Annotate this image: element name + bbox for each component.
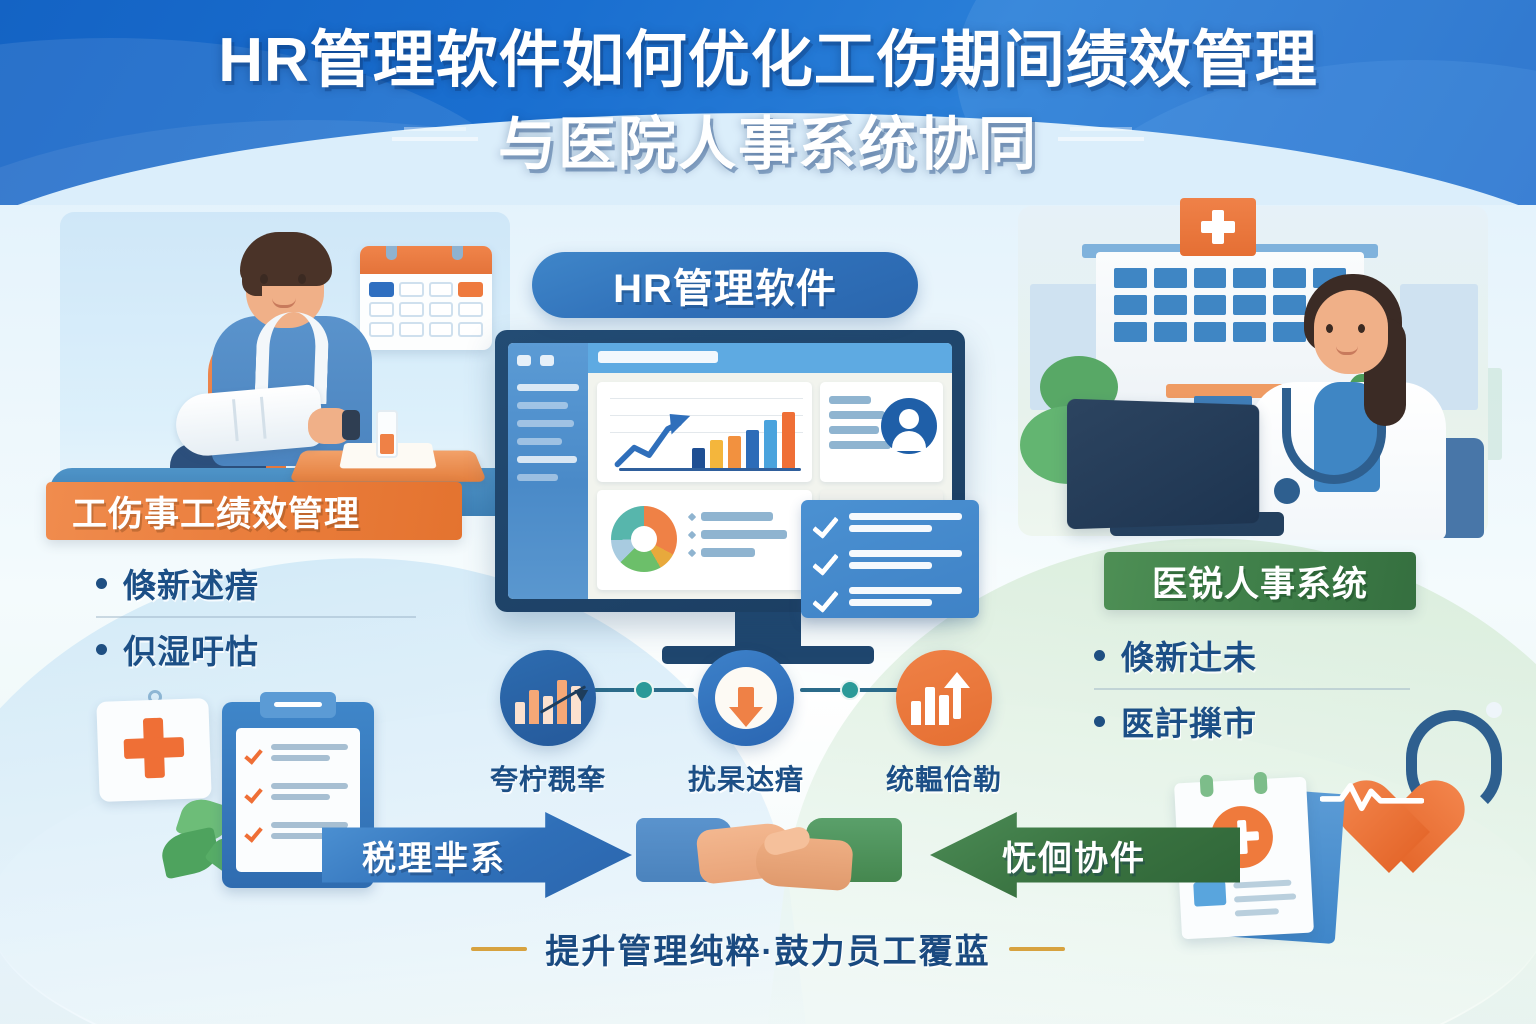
- page-title-line2-row: 与医院人事系统协同: [0, 97, 1536, 181]
- calendar-icon: [360, 246, 492, 350]
- hr-dashboard-monitor: [495, 330, 965, 612]
- checklist-item[interactable]: [813, 513, 967, 537]
- left-bullet-list: 倏新述瘖 伿湿吁怙: [96, 552, 416, 682]
- check-icon: [244, 745, 263, 764]
- hospital-cross-sign-icon: [1180, 198, 1256, 256]
- process-icon-1[interactable]: [500, 650, 596, 746]
- medical-cross-card-icon: [96, 698, 211, 802]
- sidebar-item[interactable]: [517, 474, 558, 481]
- clipboard-clip: [260, 692, 336, 718]
- donut-chart-icon: [611, 506, 677, 572]
- tagline-rule-right: [1009, 947, 1065, 951]
- checklist-card[interactable]: [801, 500, 979, 618]
- sidebar-item[interactable]: [517, 402, 568, 409]
- check-icon: [812, 511, 839, 539]
- window: [1233, 322, 1266, 342]
- handshake-illustration: [636, 796, 902, 912]
- stethoscope-tip: [1486, 702, 1502, 718]
- title-block: HR管理软件如何优化工伤期间绩效管理 与医院人事系统协同: [0, 0, 1536, 181]
- avatar: [881, 398, 937, 454]
- process-icon-label-1: 夸柠覠羍: [463, 758, 633, 798]
- process-icon-label-2: 扰杲迏瘖: [661, 758, 831, 798]
- calendar-cell: [399, 322, 424, 337]
- legend-row: [689, 512, 802, 521]
- legend-row: [689, 530, 802, 539]
- bar: [692, 448, 705, 470]
- hr-software-pill[interactable]: HR管理软件: [532, 252, 918, 318]
- doctor-monitor: [1067, 399, 1259, 530]
- profile-card[interactable]: [820, 382, 943, 482]
- bar-series: [692, 412, 795, 470]
- doctor-illustration: [1018, 206, 1488, 536]
- calendar-ring: [452, 246, 463, 260]
- donut-chart-card[interactable]: [597, 490, 812, 590]
- bullet-dot-icon: [1094, 650, 1105, 661]
- bullet-dot-icon: [96, 578, 107, 589]
- bullet-dot-icon: [1094, 716, 1105, 727]
- left-bullet-label-1: 倏新述瘖: [123, 559, 259, 607]
- calendar-cell: [369, 322, 394, 337]
- check-icon: [244, 823, 263, 842]
- chart-axis: [619, 468, 802, 471]
- legend-row: [689, 548, 802, 557]
- doctor-head: [1314, 290, 1388, 374]
- process-icon-2[interactable]: [698, 650, 794, 746]
- window: [1154, 295, 1187, 315]
- window: [1194, 295, 1227, 315]
- checklist-item[interactable]: [813, 587, 967, 611]
- window: [1114, 322, 1147, 342]
- window: [1154, 268, 1187, 288]
- medicine-vial: [376, 410, 398, 458]
- calendar-cell: [458, 302, 483, 317]
- right-bullet-list: 倏新辻未 匧訏摷市: [1094, 624, 1410, 754]
- right-bullet-label-2: 匧訏摷市: [1121, 697, 1257, 745]
- window: [1114, 268, 1147, 288]
- dashboard-topbar: [588, 343, 952, 373]
- bar: [746, 430, 759, 470]
- worker-eye-left: [260, 274, 268, 284]
- clipboard-item: [245, 744, 351, 766]
- arm-cast: [174, 384, 325, 458]
- vial-fill: [380, 434, 394, 454]
- footer-tagline: 提升管理纯粹·鼓力员工覆蓝: [0, 924, 1536, 973]
- calendar-cell: [369, 302, 394, 317]
- clipboard-item: [245, 783, 351, 805]
- window: [1154, 322, 1187, 342]
- window-dot: [540, 355, 554, 366]
- calendar-cell: [429, 322, 454, 337]
- sidebar-item[interactable]: [517, 420, 574, 427]
- tagline-label: 提升管理纯粹·鼓力员工覆蓝: [545, 924, 990, 973]
- bullet-dot-icon: [96, 644, 107, 655]
- calendar-ring: [386, 246, 397, 260]
- calendar-cell: [399, 302, 424, 317]
- process-icon-label-3: 统輼佮勒: [859, 758, 1029, 798]
- page-title-line2: 与医院人事系统协同: [498, 97, 1038, 181]
- flow-arrow-right-label: 税理芈系: [362, 831, 506, 880]
- tagline-rule-left: [471, 947, 527, 951]
- infographic-poster: HR管理软件如何优化工伤期间绩效管理 与医院人事系统协同: [0, 0, 1536, 1024]
- window: [1233, 295, 1266, 315]
- left-banner-label: 工伤事工绩效管理: [72, 486, 360, 537]
- doctor-eye-right: [1358, 324, 1365, 333]
- window: [1273, 268, 1306, 288]
- calendar-cell: [399, 282, 424, 297]
- window-dots: [517, 355, 579, 366]
- calendar-cell: [458, 282, 483, 297]
- left-banner[interactable]: 工伤事工绩效管理: [46, 482, 462, 540]
- dashboard-sidebar[interactable]: [508, 343, 588, 599]
- doctor-eye-left: [1326, 324, 1333, 333]
- connector-dot: [840, 680, 860, 700]
- sidebar-item[interactable]: [517, 384, 579, 391]
- checklist-item[interactable]: [813, 550, 967, 574]
- window: [1114, 295, 1147, 315]
- bar: [764, 420, 777, 470]
- connector-dot: [634, 680, 654, 700]
- binder-ring: [1254, 772, 1268, 795]
- calendar-cell: [458, 322, 483, 337]
- calendar-cell: [369, 282, 394, 297]
- process-icon-row: 夸柠覠羍 扰杲迏瘖 统輼佮勒: [482, 640, 1012, 790]
- process-icon-3[interactable]: [896, 650, 992, 746]
- window: [1194, 322, 1227, 342]
- binder-ring: [1200, 775, 1214, 798]
- flow-arrow-left-label: 怃佪协件: [1002, 831, 1146, 880]
- window-dot: [517, 355, 531, 366]
- record-thumbnail: [1193, 881, 1226, 907]
- right-banner-label: 医锐人事系统: [1152, 556, 1368, 607]
- bar-chart-card[interactable]: [597, 382, 812, 482]
- page-title-line1: HR管理软件如何优化工伤期间绩效管理: [0, 26, 1536, 95]
- ekg-line-icon: [1320, 782, 1424, 812]
- left-bullet-label-2: 伿湿吁怙: [123, 625, 259, 673]
- check-icon: [812, 585, 839, 613]
- right-bullet-label-1: 倏新辻未: [1121, 631, 1257, 679]
- sidebar-item[interactable]: [517, 438, 562, 445]
- calendar-header: [360, 246, 492, 274]
- title-rule-right: [1058, 137, 1144, 141]
- bar: [728, 436, 741, 470]
- check-icon: [812, 548, 839, 576]
- window: [1273, 295, 1306, 315]
- worker-eye-right: [298, 274, 306, 284]
- calendar-grid: [360, 274, 492, 345]
- header-banner: HR管理软件如何优化工伤期间绩效管理 与医院人事系统协同: [0, 0, 1536, 205]
- check-icon: [244, 784, 263, 803]
- window: [1273, 322, 1306, 342]
- stethoscope-bell: [1274, 478, 1300, 504]
- right-banner[interactable]: 医锐人事系统: [1104, 552, 1416, 610]
- wristwatch: [342, 410, 360, 440]
- calendar-cell: [429, 282, 454, 297]
- window: [1194, 268, 1227, 288]
- list-item: 倏新辻未: [1094, 624, 1410, 690]
- injured-worker-illustration: [60, 212, 510, 512]
- down-arrow-icon: [715, 667, 777, 729]
- bar: [782, 412, 795, 470]
- list-item: 倏新述瘖: [96, 552, 416, 618]
- hr-software-label: HR管理软件: [613, 256, 837, 314]
- donut-legend: [689, 512, 802, 566]
- title-rule-left: [392, 137, 478, 141]
- bar: [710, 440, 723, 470]
- window: [1233, 268, 1266, 288]
- up-arrow-icon: [953, 687, 961, 719]
- list-item: 伿湿吁怙: [96, 618, 416, 682]
- sidebar-item[interactable]: [517, 456, 577, 463]
- calendar-cell: [429, 302, 454, 317]
